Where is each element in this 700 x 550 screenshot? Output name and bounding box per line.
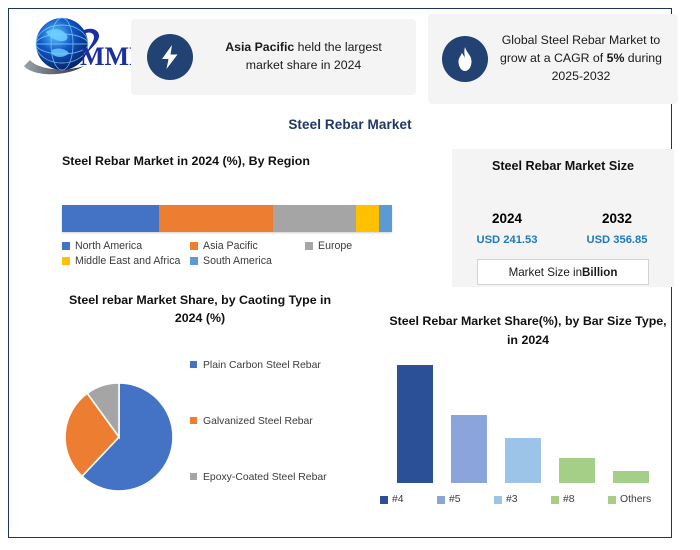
bar [397, 365, 433, 483]
region-chart-legend: North AmericaAsia PacificEuropeMiddle Ea… [62, 240, 402, 270]
market-size-card: Steel Rebar Market Size 2024 USD 241.53 … [452, 149, 674, 287]
legend-item: #8 [551, 494, 608, 505]
region-chart-title: Steel Rebar Market in 2024 (%), By Regio… [62, 154, 402, 168]
header-card-cagr: Global Steel Rebar Market to grow at a C… [428, 14, 678, 104]
legend-item: Epoxy-Coated Steel Rebar [190, 470, 350, 485]
region-bar-segment [356, 205, 379, 232]
legend-row: North AmericaAsia PacificEurope [62, 240, 402, 252]
header-card-2-text: Global Steel Rebar Market to grow at a C… [498, 32, 678, 85]
legend-swatch-icon [380, 496, 388, 504]
market-size-unit-note: Market Size in Billion [477, 259, 649, 285]
legend-label: Galvanized Steel Rebar [203, 414, 313, 429]
market-size-note-bold: Billion [582, 266, 617, 279]
region-bar-segment [159, 205, 273, 232]
bar-size-chart-title: Steel Rebar Market Share(%), by Bar Size… [388, 312, 668, 349]
legend-swatch-icon [190, 257, 198, 265]
bar-slot [550, 365, 604, 483]
legend-item: Europe [305, 240, 352, 252]
legend-swatch-icon [305, 242, 313, 250]
legend-swatch-icon [437, 496, 445, 504]
legend-item: #3 [494, 494, 551, 505]
legend-label: #3 [506, 494, 518, 505]
market-size-year-1: 2024 [458, 211, 556, 226]
market-size-title: Steel Rebar Market Size [452, 159, 674, 173]
market-size-col-2024: 2024 USD 241.53 [458, 211, 556, 246]
legend-item: South America [190, 255, 272, 267]
legend-swatch-icon [608, 496, 616, 504]
region-bar-segment [62, 205, 159, 232]
legend-swatch-icon [190, 473, 197, 480]
legend-label: #4 [392, 494, 404, 505]
legend-label: South America [203, 255, 272, 267]
region-bar-segment [273, 205, 356, 232]
legend-label: North America [75, 240, 142, 252]
legend-swatch-icon [190, 361, 197, 368]
bar-slot [496, 365, 550, 483]
legend-item: Middle East and Africa [62, 255, 190, 267]
legend-item: North America [62, 240, 190, 252]
header-card-2-bold: 5% [607, 51, 625, 65]
header-card-asia-pacific: Asia Pacific held the largest market sha… [131, 19, 416, 95]
legend-swatch-icon [62, 257, 70, 265]
infographic-canvas: MMR Asia Pacific held the largest market… [0, 0, 700, 550]
bar-size-bar-chart [388, 365, 658, 483]
market-size-note-a: Market Size in [509, 266, 582, 279]
legend-row: Middle East and AfricaSouth America [62, 255, 402, 267]
market-size-value-2: USD 356.85 [568, 234, 666, 246]
region-stacked-bar-chart [62, 205, 392, 232]
legend-label: #5 [449, 494, 461, 505]
header-card-1-bold: Asia Pacific [225, 40, 294, 54]
bar-slot [388, 365, 442, 483]
legend-item: #5 [437, 494, 494, 505]
bar-size-chart-legend: #4#5#3#8Others [380, 494, 665, 505]
legend-label: Asia Pacific [203, 240, 258, 252]
header-card-1-text: Asia Pacific held the largest market sha… [205, 39, 416, 75]
market-size-year-2: 2032 [568, 211, 666, 226]
pie-chart-legend: Plain Carbon Steel RebarGalvanized Steel… [190, 358, 350, 526]
bar-slot [442, 365, 496, 483]
region-bar-segment [379, 205, 392, 232]
legend-label: Plain Carbon Steel Rebar [203, 358, 321, 373]
market-size-col-2032: 2032 USD 356.85 [568, 211, 666, 246]
legend-swatch-icon [62, 242, 70, 250]
bar-slot [604, 365, 658, 483]
flame-icon [442, 36, 488, 82]
legend-item: Asia Pacific [190, 240, 305, 252]
legend-label: Middle East and Africa [75, 255, 180, 267]
coating-type-pie-chart [62, 380, 176, 494]
legend-swatch-icon [494, 496, 502, 504]
bar [613, 471, 649, 483]
market-size-value-1: USD 241.53 [458, 234, 556, 246]
legend-label: Europe [318, 240, 352, 252]
legend-label: Epoxy-Coated Steel Rebar [203, 470, 327, 485]
legend-item: #4 [380, 494, 437, 505]
legend-swatch-icon [190, 417, 197, 424]
legend-label: Others [620, 494, 651, 505]
legend-swatch-icon [190, 242, 198, 250]
bar [559, 458, 595, 483]
legend-item: Others [608, 494, 665, 505]
bar [505, 438, 541, 483]
legend-item: Galvanized Steel Rebar [190, 414, 350, 429]
page-title: Steel Rebar Market [0, 117, 700, 132]
bar [451, 415, 487, 483]
legend-label: #8 [563, 494, 575, 505]
legend-item: Plain Carbon Steel Rebar [190, 358, 350, 373]
lightning-bolt-icon [147, 34, 193, 80]
pie-chart-title: Steel rebar Market Share, by Caoting Typ… [55, 292, 345, 328]
legend-swatch-icon [551, 496, 559, 504]
